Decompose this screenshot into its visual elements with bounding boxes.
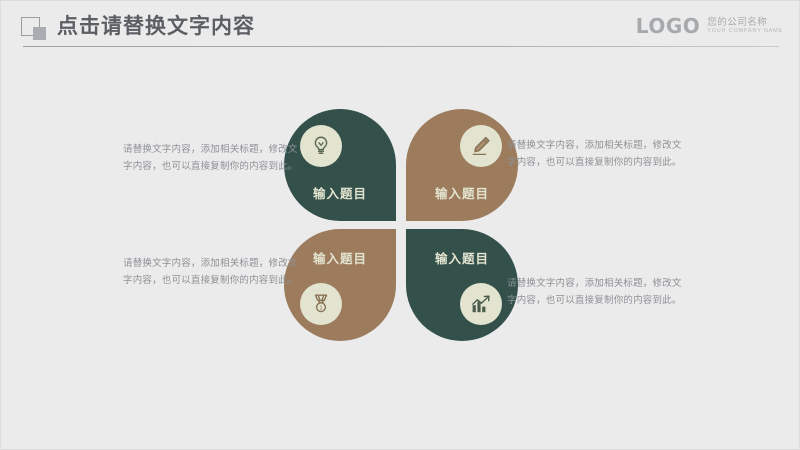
title-decoration-icon — [21, 17, 47, 41]
growth-chart-icon — [460, 283, 502, 325]
petal-label-bottom-right: 输入题目 — [406, 248, 518, 267]
square-filled-icon — [33, 27, 46, 40]
page-title: 点击请替换文字内容 — [57, 13, 255, 41]
description-bottom-left: 请替换文字内容，添加相关标题，修改文字内容，也可以直接复制你的内容到此。 — [123, 255, 299, 289]
company-name-cn: 您的公司名称 — [707, 18, 783, 28]
medal-icon: 1 — [300, 283, 342, 325]
slide-canvas: 点击请替换文字内容 LOGO 您的公司名称 YOUR COMPANY NAME … — [0, 0, 800, 450]
petal-bottom-right[interactable]: 输入题目 — [406, 229, 518, 341]
petal-bottom-left[interactable]: 1 输入题目 — [284, 229, 396, 341]
petal-top-left[interactable]: 输入题目 — [284, 109, 396, 221]
company-name-en: YOUR COMPANY NAME — [707, 29, 783, 34]
logo-mark: LOGO — [636, 15, 700, 37]
description-bottom-right: 请替换文字内容，添加相关标题，修改文字内容，也可以直接复制你的内容到此。 — [507, 275, 683, 309]
svg-text:1: 1 — [319, 305, 322, 311]
petal-label-top-right: 输入题目 — [406, 183, 518, 202]
petal-top-right[interactable]: 输入题目 — [406, 109, 518, 221]
description-top-left: 请替换文字内容，添加相关标题，修改文字内容，也可以直接复制你的内容到此。 — [123, 141, 299, 175]
slide-header: 点击请替换文字内容 LOGO 您的公司名称 YOUR COMPANY NAME — [1, 1, 800, 48]
header-divider — [23, 46, 779, 47]
petal-label-top-left: 输入题目 — [284, 183, 396, 202]
pencil-icon — [460, 125, 502, 167]
petal-label-bottom-left: 输入题目 — [284, 248, 396, 267]
lightbulb-icon — [300, 125, 342, 167]
logo-text-group: 您的公司名称 YOUR COMPANY NAME — [707, 18, 783, 35]
description-top-right: 请替换文字内容，添加相关标题，修改文字内容，也可以直接复制你的内容到此。 — [507, 137, 683, 171]
company-logo: LOGO 您的公司名称 YOUR COMPANY NAME — [636, 10, 783, 42]
four-petal-diagram: 输入题目 输入题目 1 — [284, 109, 518, 341]
